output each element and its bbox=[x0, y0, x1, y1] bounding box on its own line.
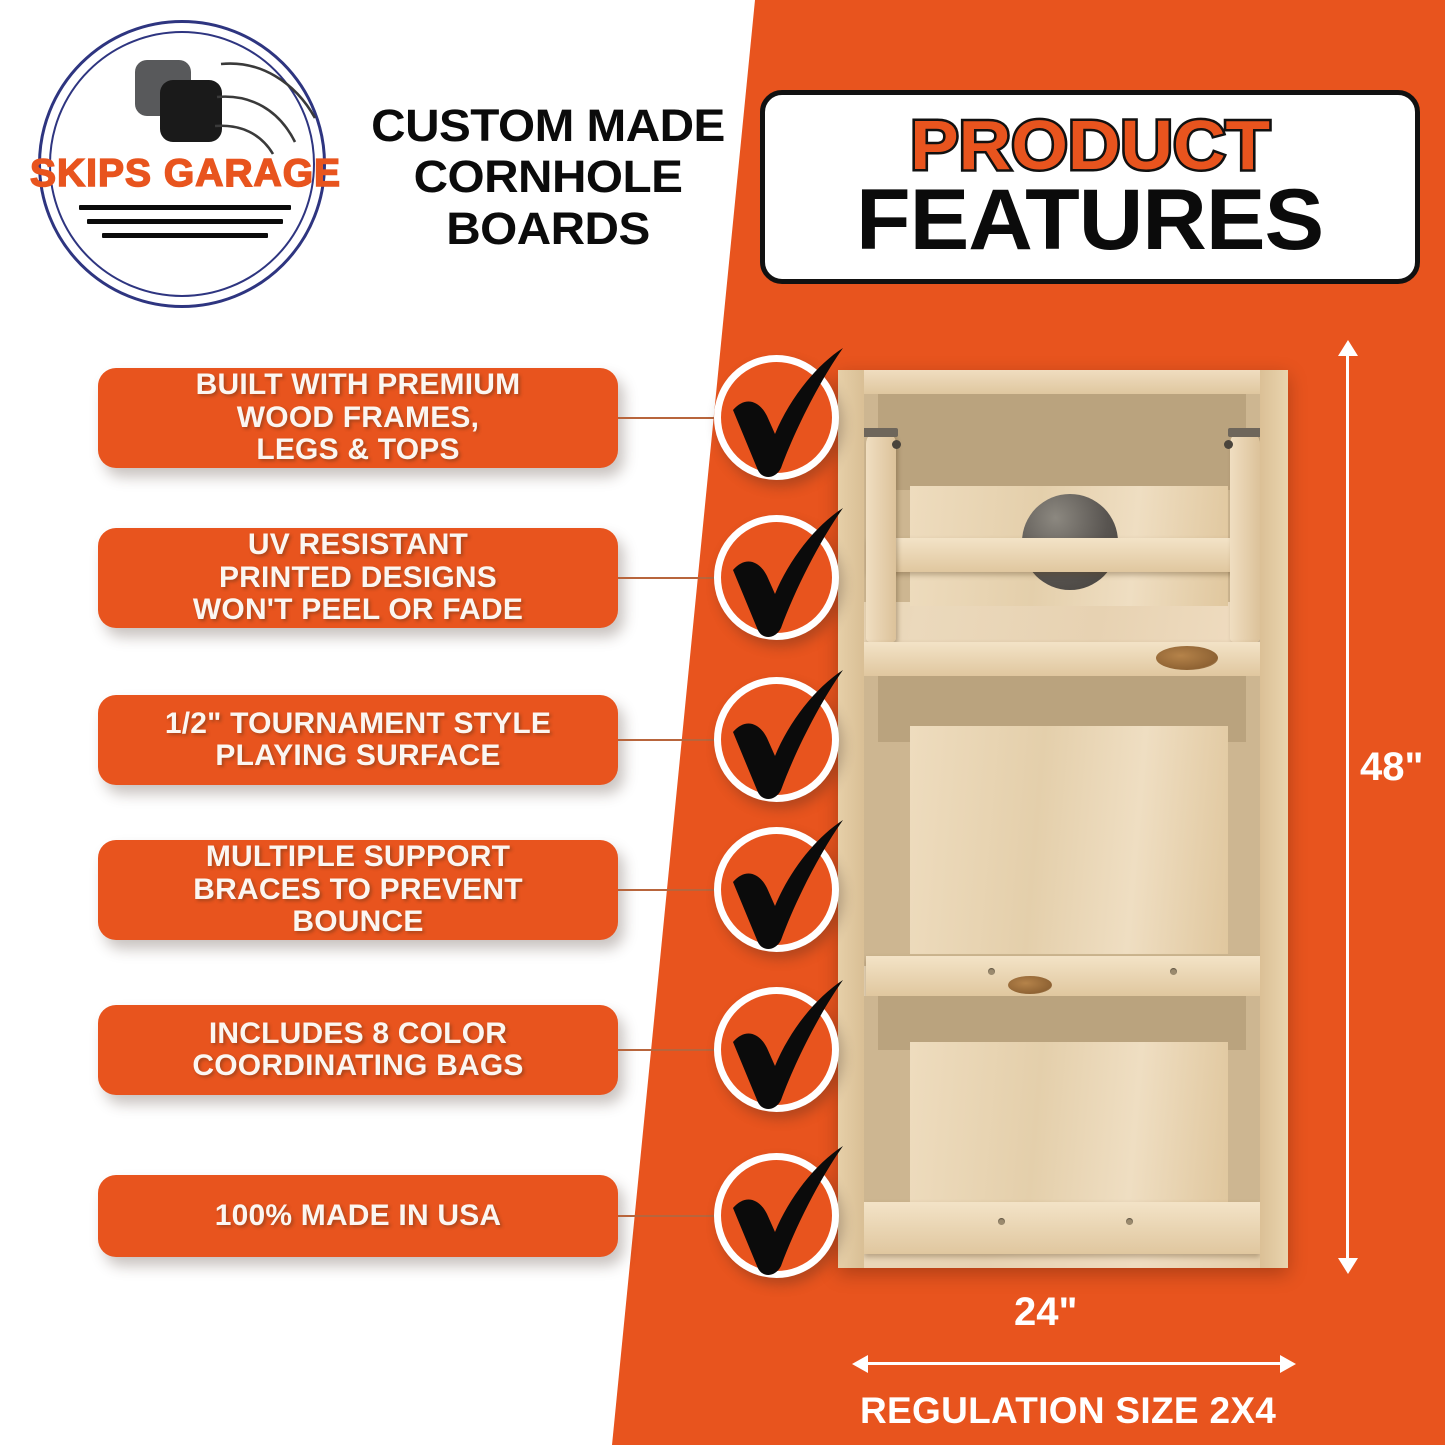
feature-row-uv-resistant: UV RESISTANT PRINTED DESIGNS WON'T PEEL … bbox=[98, 528, 818, 658]
checkmark-icon bbox=[715, 338, 853, 488]
check-badge-playing-surface bbox=[714, 677, 839, 802]
feature-pill-text: BUILT WITH PREMIUM WOOD FRAMES, LEGS & T… bbox=[196, 369, 521, 466]
feature-line: PRINTED DESIGNS bbox=[193, 562, 523, 594]
folding-leg-left bbox=[866, 430, 896, 642]
height-dimension-line bbox=[1346, 350, 1349, 1266]
banner-word-product: PRODUCT bbox=[910, 112, 1270, 179]
height-label: 48" bbox=[1360, 745, 1423, 790]
feature-connector-line bbox=[618, 417, 716, 419]
logo-underline-rules bbox=[30, 205, 340, 247]
feature-pill-made-in-usa[interactable]: 100% MADE IN USA bbox=[98, 1175, 618, 1257]
feature-connector-line bbox=[618, 1049, 716, 1051]
checkmark-icon bbox=[715, 970, 853, 1120]
folding-leg-right bbox=[1230, 430, 1260, 642]
page-title-line-1: CUSTOM MADE bbox=[334, 100, 762, 151]
feature-line: MULTIPLE SUPPORT bbox=[193, 841, 523, 873]
page-title: CUSTOM MADE CORNHOLE BOARDS bbox=[334, 100, 762, 254]
bean-bag-front-icon bbox=[160, 80, 222, 142]
feature-connector-line bbox=[618, 889, 716, 891]
feature-line: WOOD FRAMES, bbox=[196, 402, 521, 434]
check-badge-uv-resistant bbox=[714, 515, 839, 640]
feature-line: UV RESISTANT bbox=[193, 529, 523, 561]
feature-row-made-in-usa: 100% MADE IN USA bbox=[98, 1175, 818, 1285]
feature-pill-text: UV RESISTANT PRINTED DESIGNS WON'T PEEL … bbox=[193, 529, 523, 626]
check-badge-premium-wood bbox=[714, 355, 839, 480]
checkmark-icon bbox=[715, 660, 853, 810]
feature-row-support-braces: MULTIPLE SUPPORT BRACES TO PREVENT BOUNC… bbox=[98, 840, 818, 970]
feature-line: WON'T PEEL OR FADE bbox=[193, 594, 523, 626]
width-arrow-right bbox=[1280, 1355, 1296, 1373]
support-brace-upper bbox=[868, 538, 1260, 572]
width-label: 24" bbox=[1014, 1290, 1077, 1335]
feature-line: 100% MADE IN USA bbox=[215, 1200, 502, 1232]
feature-line: BOUNCE bbox=[193, 906, 523, 938]
feature-pill-included-bags[interactable]: INCLUDES 8 COLOR COORDINATING BAGS bbox=[98, 1005, 618, 1095]
feature-line: LEGS & TOPS bbox=[196, 434, 521, 466]
feature-connector-line bbox=[618, 1215, 716, 1217]
feature-row-playing-surface: 1/2" TOURNAMENT STYLE PLAYING SURFACE bbox=[98, 695, 818, 815]
page-title-line-2: CORNHOLE bbox=[334, 151, 762, 202]
feature-line: BUILT WITH PREMIUM bbox=[196, 369, 521, 401]
checkmark-icon bbox=[715, 810, 853, 960]
check-badge-included-bags bbox=[714, 987, 839, 1112]
page-title-line-3: BOARDS bbox=[334, 203, 762, 254]
feature-line: 1/2" TOURNAMENT STYLE bbox=[165, 708, 551, 740]
feature-line: INCLUDES 8 COLOR bbox=[192, 1018, 523, 1050]
cornhole-board-image bbox=[838, 370, 1288, 1268]
width-arrow-left bbox=[852, 1355, 868, 1373]
bottom-rail bbox=[864, 1202, 1260, 1254]
motion-arcs-icon bbox=[215, 52, 325, 157]
feature-pill-playing-surface[interactable]: 1/2" TOURNAMENT STYLE PLAYING SURFACE bbox=[98, 695, 618, 785]
feature-row-premium-wood: BUILT WITH PREMIUM WOOD FRAMES, LEGS & T… bbox=[98, 368, 818, 498]
brand-logo: SKIPS GARAGE bbox=[30, 12, 340, 312]
check-badge-support-braces bbox=[714, 827, 839, 952]
feature-connector-line bbox=[618, 739, 716, 741]
feature-connector-line bbox=[618, 577, 716, 579]
product-features-banner: PRODUCT FEATURES bbox=[760, 90, 1420, 284]
feature-pill-text: MULTIPLE SUPPORT BRACES TO PREVENT BOUNC… bbox=[193, 841, 523, 938]
feature-row-included-bags: INCLUDES 8 COLOR COORDINATING BAGS bbox=[98, 1005, 818, 1125]
feature-pill-support-braces[interactable]: MULTIPLE SUPPORT BRACES TO PREVENT BOUNC… bbox=[98, 840, 618, 940]
height-arrow-bottom bbox=[1338, 1258, 1358, 1274]
check-badge-made-in-usa bbox=[714, 1153, 839, 1278]
feature-pill-text: 100% MADE IN USA bbox=[215, 1200, 502, 1232]
width-dimension-line bbox=[868, 1362, 1280, 1365]
checkmark-icon bbox=[715, 498, 853, 648]
feature-line: BRACES TO PREVENT bbox=[193, 874, 523, 906]
feature-pill-text: 1/2" TOURNAMENT STYLE PLAYING SURFACE bbox=[165, 708, 551, 773]
feature-line: PLAYING SURFACE bbox=[165, 740, 551, 772]
feature-pill-text: INCLUDES 8 COLOR COORDINATING BAGS bbox=[192, 1018, 523, 1083]
logo-wordmark: SKIPS GARAGE bbox=[30, 152, 340, 196]
feature-pill-premium-wood[interactable]: BUILT WITH PREMIUM WOOD FRAMES, LEGS & T… bbox=[98, 368, 618, 468]
feature-line: COORDINATING BAGS bbox=[192, 1050, 523, 1082]
checkmark-icon bbox=[715, 1136, 853, 1286]
support-brace-lower bbox=[866, 956, 1260, 996]
feature-pill-uv-resistant[interactable]: UV RESISTANT PRINTED DESIGNS WON'T PEEL … bbox=[98, 528, 618, 628]
banner-word-features: FEATURES bbox=[856, 180, 1323, 262]
regulation-size-text: REGULATION SIZE 2X4 bbox=[860, 1390, 1276, 1432]
